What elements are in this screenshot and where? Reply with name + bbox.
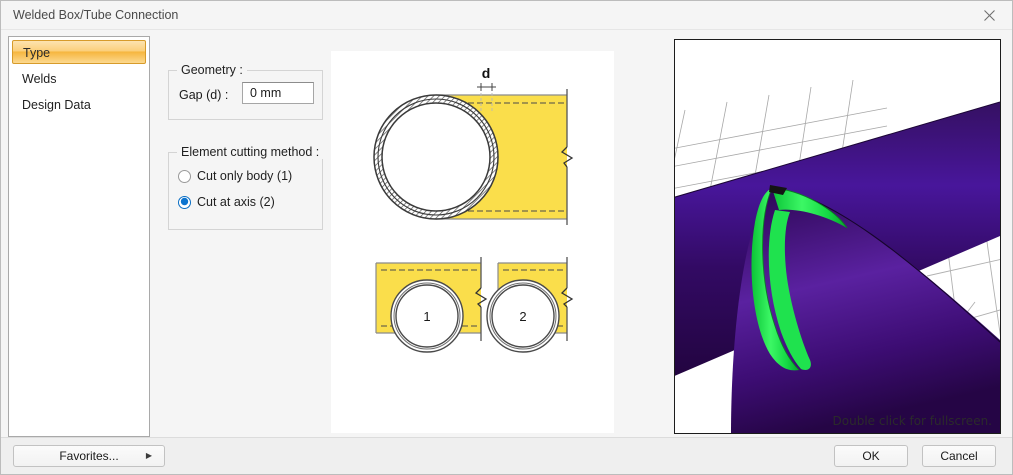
- sidebar-item-welds[interactable]: Welds: [9, 66, 149, 92]
- radio-cut-at-axis[interactable]: Cut at axis (2): [178, 193, 275, 211]
- sidebar-item-label: Type: [23, 46, 50, 60]
- favorites-button[interactable]: Favorites... ▶: [13, 445, 165, 467]
- ok-button-label: OK: [862, 449, 879, 463]
- 3d-model-render: [675, 40, 1000, 433]
- sidebar-navigation: Type Welds Design Data: [8, 36, 150, 437]
- dimension-d-label: d: [482, 65, 491, 81]
- ok-button[interactable]: OK: [834, 445, 908, 467]
- cancel-button[interactable]: Cancel: [922, 445, 996, 467]
- favorites-button-label: Favorites...: [59, 449, 118, 463]
- radio-cut-at-axis-label: Cut at axis (2): [197, 195, 275, 209]
- gap-label: Gap (d) :: [179, 88, 228, 102]
- cancel-button-label: Cancel: [940, 449, 977, 463]
- window-title: Welded Box/Tube Connection: [13, 8, 178, 22]
- dialog-footer: Favorites... ▶ OK Cancel: [1, 437, 1012, 474]
- dialog-body: Type Welds Design Data Geometry : Gap (d…: [1, 30, 1012, 439]
- element-cutting-method-legend: Element cutting method :: [177, 145, 323, 159]
- radio-checked-icon: [178, 196, 191, 209]
- radio-unchecked-icon: [178, 170, 191, 183]
- close-icon[interactable]: [967, 1, 1012, 29]
- sidebar-item-label: Welds: [22, 72, 57, 86]
- drawing-preview-panel: d 1: [331, 51, 614, 433]
- gap-input[interactable]: 0 mm: [242, 82, 314, 104]
- geometry-group: Geometry : Gap (d) : 0 mm: [168, 70, 323, 120]
- sidebar-item-type[interactable]: Type: [12, 40, 146, 64]
- section-variant-1: 1: [376, 257, 486, 352]
- title-bar: Welded Box/Tube Connection: [1, 1, 1012, 30]
- caret-right-icon: ▶: [146, 452, 152, 460]
- radio-cut-only-body-label: Cut only body (1): [197, 169, 292, 183]
- sidebar-item-label: Design Data: [22, 98, 91, 112]
- section-2-label: 2: [519, 309, 526, 324]
- geometry-group-legend: Geometry :: [177, 63, 247, 77]
- fullscreen-hint: Double click for fullscreen.: [833, 414, 992, 428]
- 3d-viewport[interactable]: Double click for fullscreen.: [674, 39, 1001, 434]
- section-1-label: 1: [423, 309, 430, 324]
- section-variant-2: 2: [487, 257, 572, 352]
- connection-drawing: d 1: [331, 51, 614, 433]
- radio-cut-only-body[interactable]: Cut only body (1): [178, 167, 292, 185]
- top-view-tube-section: [374, 95, 498, 219]
- element-cutting-method-group: Element cutting method : Cut only body (…: [168, 152, 323, 230]
- sidebar-item-design-data[interactable]: Design Data: [9, 92, 149, 118]
- dialog-window: Welded Box/Tube Connection Type Welds De…: [0, 0, 1013, 475]
